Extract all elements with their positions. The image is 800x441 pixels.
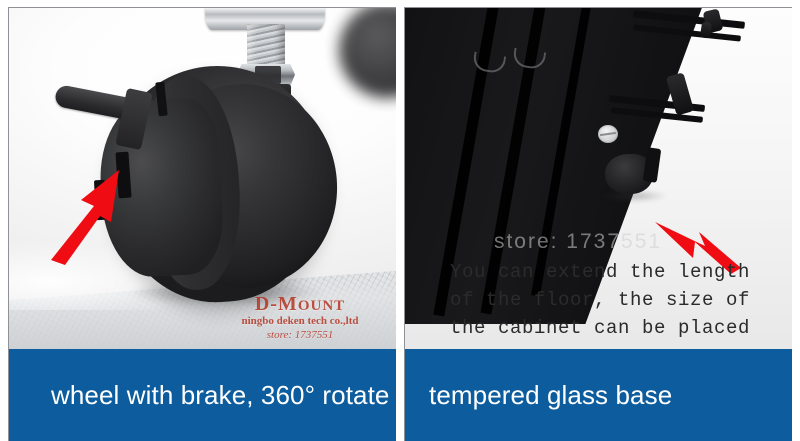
feature-panel-right: store: 1737551 You can extend the length… [404,7,792,441]
base-screw [598,125,618,143]
caption-bar-left: wheel with brake, 360° rotate [9,349,396,441]
feature-panel-left: D-MOUNT ningbo deken tech co.,ltd store:… [8,7,396,441]
caption-bar-right: tempered glass base [405,349,792,441]
caption-text-left: wheel with brake, 360° rotate [9,380,390,411]
panel-divider [398,0,404,441]
feature-collage: D-MOUNT ningbo deken tech co.,ltd store:… [0,0,800,441]
printed-instruction-text: You can extend the length of the floor, … [417,258,783,342]
caption-text-right: tempered glass base [405,380,672,411]
product-photo-glass-base: store: 1737551 You can extend the length… [405,8,792,350]
product-photo-caster-wheel: D-MOUNT ningbo deken tech co.,ltd store:… [9,8,396,350]
threaded-bolt [247,24,285,68]
callout-arrow-icon [43,166,129,268]
